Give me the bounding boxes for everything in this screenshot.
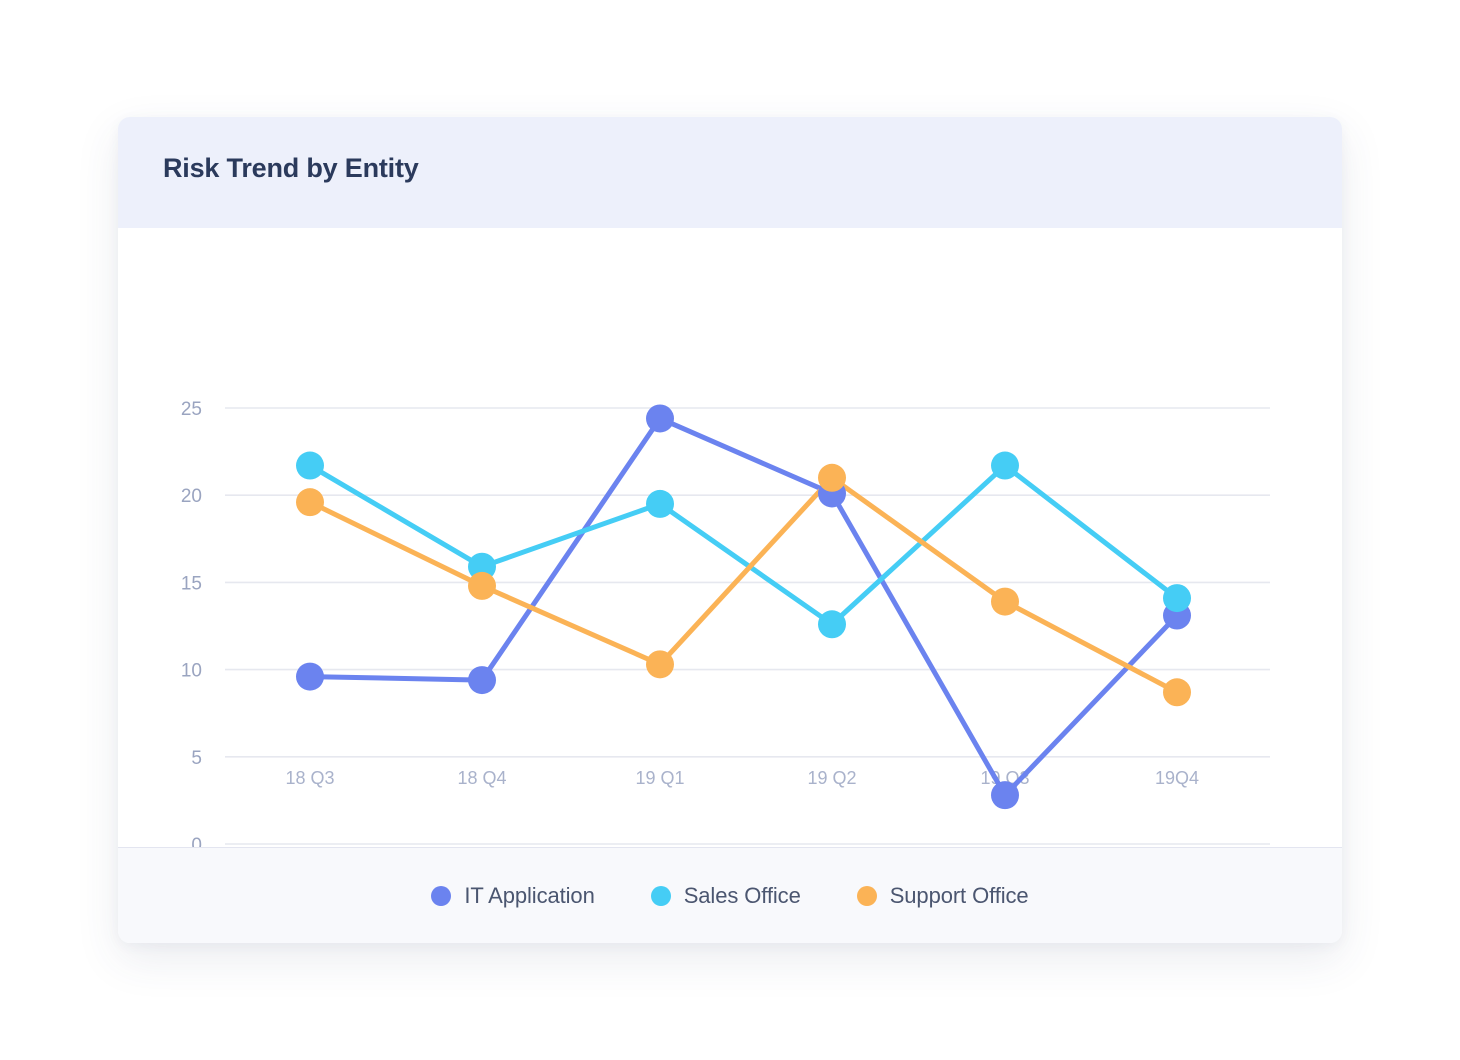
series-markers[interactable] [296, 404, 1191, 809]
legend-swatch-icon [651, 886, 671, 906]
chart-plot-area: 0510152025 18 Q318 Q419 Q119 Q219 Q319Q4 [118, 228, 1342, 847]
y-axis-tick-label: 15 [181, 573, 202, 594]
legend-item-sales-office[interactable]: Sales Office [651, 883, 801, 909]
x-axis-tick-label: 19 Q2 [807, 768, 856, 788]
legend-swatch-icon [431, 886, 451, 906]
data-point-marker[interactable] [818, 464, 846, 492]
series-line [310, 418, 1177, 795]
x-axis-tick-label: 18 Q4 [457, 768, 506, 788]
data-point-marker[interactable] [296, 452, 324, 480]
risk-trend-card: Risk Trend by Entity 0510152025 18 Q318 … [118, 117, 1342, 943]
x-axis-tick-labels: 18 Q318 Q419 Q119 Q219 Q319Q4 [285, 768, 1199, 788]
screenshot-root: Risk Trend by Entity 0510152025 18 Q318 … [0, 0, 1460, 1060]
y-axis-tick-label: 25 [181, 399, 202, 420]
data-point-marker[interactable] [1163, 678, 1191, 706]
y-axis-tick-label: 5 [191, 748, 202, 769]
line-chart[interactable]: 0510152025 18 Q318 Q419 Q119 Q219 Q319Q4 [118, 228, 1342, 847]
y-axis-tick-labels: 0510152025 [181, 399, 202, 847]
card-header: Risk Trend by Entity [118, 117, 1342, 228]
gridlines [225, 408, 1270, 844]
data-point-marker[interactable] [1163, 584, 1191, 612]
legend-item-it-application[interactable]: IT Application [431, 883, 594, 909]
legend-item-label: Sales Office [684, 883, 801, 909]
legend-item-label: IT Application [464, 883, 594, 909]
data-point-marker[interactable] [296, 663, 324, 691]
y-axis-tick-label: 20 [181, 486, 202, 507]
data-point-marker[interactable] [646, 404, 674, 432]
data-point-marker[interactable] [991, 452, 1019, 480]
legend-swatch-icon [857, 886, 877, 906]
x-axis-tick-label: 19Q4 [1155, 768, 1199, 788]
page-title: Risk Trend by Entity [163, 153, 419, 184]
series-lines [310, 418, 1177, 795]
x-axis-tick-label: 18 Q3 [285, 768, 334, 788]
data-point-marker[interactable] [468, 666, 496, 694]
data-point-marker[interactable] [296, 488, 324, 516]
legend-item-label: Support Office [890, 883, 1029, 909]
data-point-marker[interactable] [468, 572, 496, 600]
y-axis-tick-label: 10 [181, 661, 202, 682]
data-point-marker[interactable] [818, 610, 846, 638]
chart-legend: IT Application Sales Office Support Offi… [118, 847, 1342, 943]
series-line [310, 478, 1177, 693]
data-point-marker[interactable] [991, 588, 1019, 616]
legend-item-support-office[interactable]: Support Office [857, 883, 1029, 909]
series-line [310, 466, 1177, 625]
data-point-marker[interactable] [646, 490, 674, 518]
x-axis-tick-label: 19 Q1 [635, 768, 684, 788]
data-point-marker[interactable] [646, 650, 674, 678]
data-point-marker[interactable] [991, 781, 1019, 809]
y-axis-tick-label: 0 [191, 835, 202, 847]
